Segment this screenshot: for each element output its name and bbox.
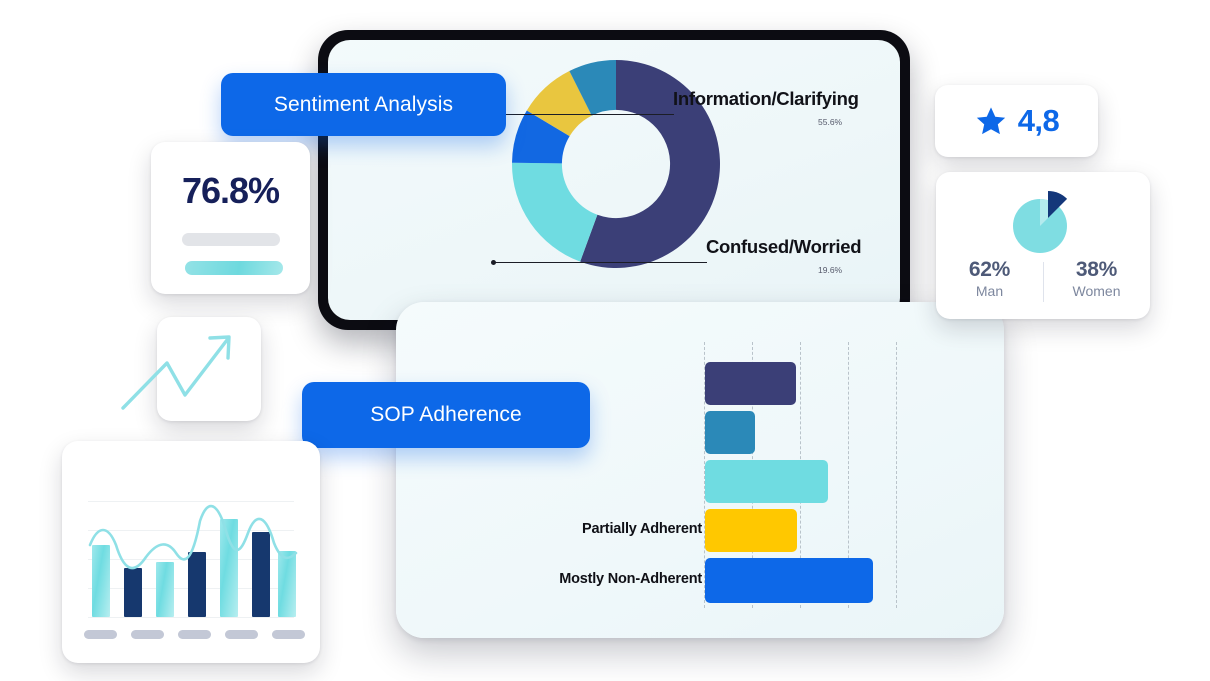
sop-bar-chart: Partially Adherent Mostly Non-Adherent xyxy=(704,342,954,608)
mini-bar-chart xyxy=(88,501,294,617)
mini-trend-line xyxy=(88,501,298,619)
badge-sentiment-analysis-label: Sentiment Analysis xyxy=(274,93,453,117)
donut-slices xyxy=(500,48,732,280)
bar-partially-adherent[interactable] xyxy=(705,509,797,552)
rating-value: 4,8 xyxy=(1018,103,1060,139)
badge-sop-adherence-label: SOP Adherence xyxy=(370,403,522,427)
gridline-4 xyxy=(896,342,897,608)
slice-confused-worried xyxy=(512,163,597,262)
bar-adherent[interactable] xyxy=(705,411,755,454)
mini-axis-placeholder-3 xyxy=(178,630,211,639)
gender-percent-man: 62% xyxy=(936,258,1043,282)
kpi-placeholder-bar-gray xyxy=(182,233,280,246)
mini-axis-placeholder-1 xyxy=(84,630,117,639)
mini-axis-placeholder-2 xyxy=(131,630,164,639)
star-icon xyxy=(974,104,1008,138)
bar-label-mostly-non-adherent: Mostly Non-Adherent xyxy=(559,571,702,587)
donut-percent-confused-worried: 19.6% xyxy=(818,265,842,275)
gender-stats: 62% Man 38% Women xyxy=(936,258,1150,310)
rating-card: 4,8 xyxy=(935,85,1098,157)
gender-percent-women: 38% xyxy=(1043,258,1150,282)
kpi-card: 76.8% xyxy=(151,142,310,294)
leader-dot-confused-worried xyxy=(491,260,496,265)
illustration-stage: Information/Clarifying 55.6% Confused/Wo… xyxy=(0,0,1210,681)
gender-label-man: Man xyxy=(936,283,1043,299)
kpi-placeholder-bar-cyan xyxy=(185,261,283,275)
donut-label-confused-worried: Confused/Worried xyxy=(706,236,861,258)
gender-pie-icon xyxy=(998,186,1090,258)
bar-mostly-adherent[interactable] xyxy=(705,460,828,503)
gender-stat-women: 38% Women xyxy=(1043,258,1150,310)
donut-percent-information-clarifying: 55.6% xyxy=(818,117,842,127)
bar-label-partially-adherent: Partially Adherent xyxy=(582,521,702,537)
kpi-value: 76.8% xyxy=(151,170,310,212)
mini-axis-placeholder-5 xyxy=(272,630,305,639)
badge-sentiment-analysis[interactable]: Sentiment Analysis xyxy=(221,73,506,136)
gender-stat-man: 62% Man xyxy=(936,258,1043,310)
mini-chart-card xyxy=(62,441,320,663)
trend-icon-card xyxy=(157,317,261,421)
badge-sop-adherence[interactable]: SOP Adherence xyxy=(302,382,590,448)
mini-axis-placeholder-4 xyxy=(225,630,258,639)
gender-breakdown-card: 62% Man 38% Women xyxy=(936,172,1150,319)
bar-mostly-non-adherent[interactable] xyxy=(705,558,873,603)
donut-label-information-clarifying: Information/Clarifying xyxy=(673,88,859,110)
bar-fully-adherent[interactable] xyxy=(705,362,796,405)
sop-adherence-card: Partially Adherent Mostly Non-Adherent xyxy=(396,302,1004,638)
gender-label-women: Women xyxy=(1043,283,1150,299)
leader-line-confused-worried xyxy=(493,262,707,263)
